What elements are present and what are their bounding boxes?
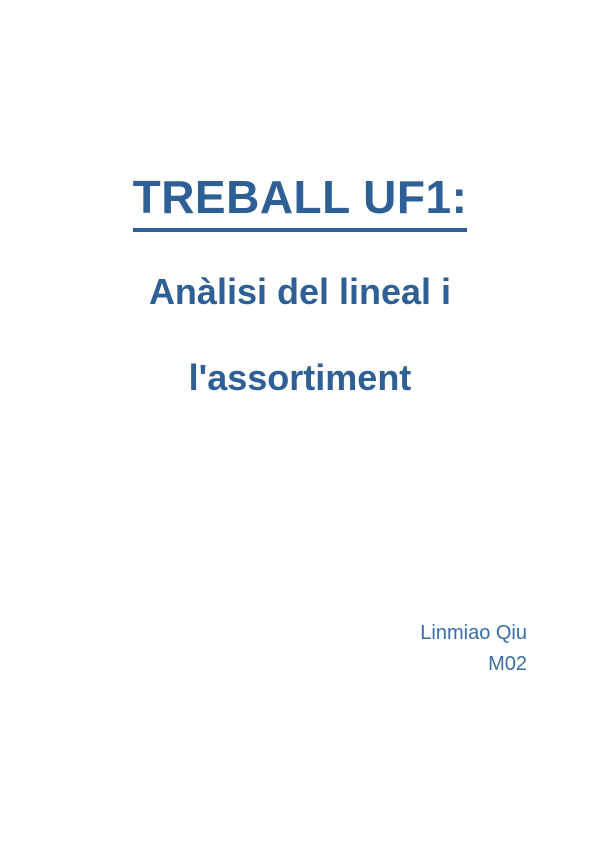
page-title: TREBALL UF1:	[0, 168, 600, 232]
title-block: TREBALL UF1: Anàlisi del lineal i l'asso…	[0, 168, 600, 400]
title-underline-rule	[133, 228, 468, 232]
author-name: Linmiao Qiu	[420, 618, 527, 649]
page-title-text: TREBALL UF1:	[133, 171, 468, 223]
subtitle-line-1: Anàlisi del lineal i	[0, 270, 600, 314]
subtitle-line-2: l'assortiment	[0, 356, 600, 400]
document-page: TREBALL UF1: Anàlisi del lineal i l'asso…	[0, 0, 600, 848]
author-block: Linmiao Qiu M02	[420, 618, 527, 680]
author-group-code: M02	[420, 649, 527, 680]
page-title-text-wrapper: TREBALL UF1:	[133, 168, 468, 232]
